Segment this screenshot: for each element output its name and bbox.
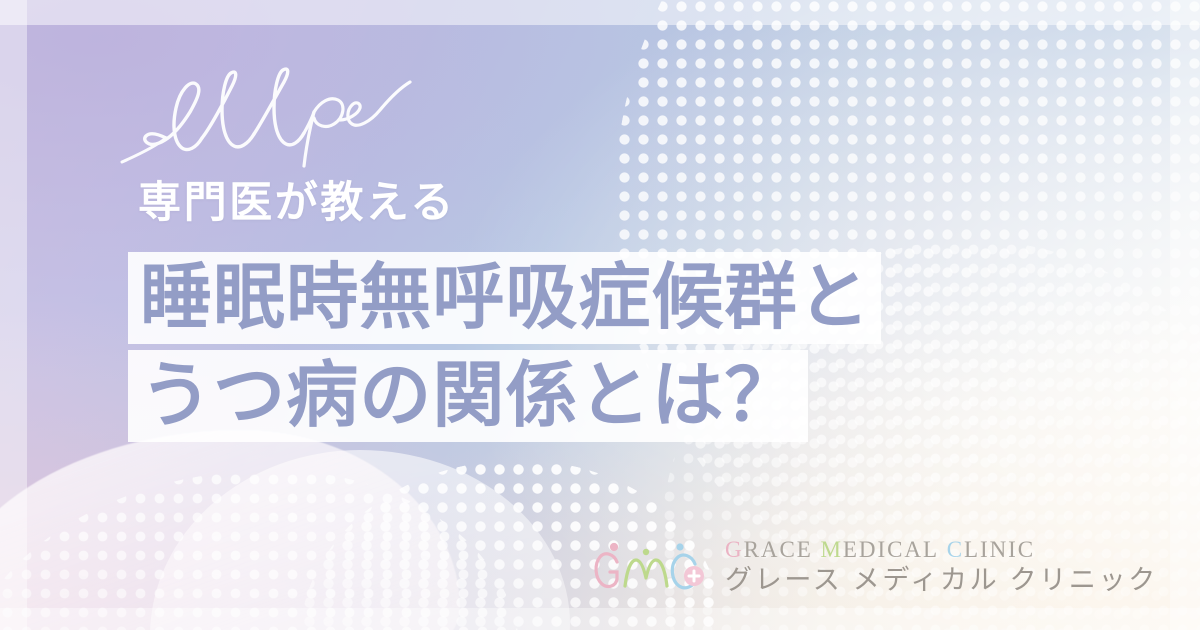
- headline: 睡眠時無呼吸症候群と うつ病の関係とは？: [128, 252, 881, 448]
- logo-en-linic: LINIC: [964, 537, 1035, 562]
- clinic-logo[interactable]: GRACE MEDICAL CLINIC グレース メディカル クリニック: [591, 536, 1158, 598]
- banner-content: 専門医が教える 睡眠時無呼吸症候群と うつ病の関係とは？: [0, 0, 1200, 630]
- headline-line-2: うつ病の関係とは？: [128, 350, 808, 442]
- headline-row-2: うつ病の関係とは？: [128, 350, 881, 448]
- script-wordmark-sleep: [118, 62, 418, 172]
- gmc-logo-mark-icon: [591, 536, 707, 598]
- logo-en-g: G: [725, 537, 744, 562]
- logo-en-race: RACE: [744, 537, 813, 562]
- headline-line-1: 睡眠時無呼吸症候群と: [128, 252, 881, 344]
- logo-en-m: M: [821, 537, 843, 562]
- logo-text-block: GRACE MEDICAL CLINIC グレース メディカル クリニック: [725, 538, 1158, 596]
- logo-name-jp: グレース メディカル クリニック: [725, 565, 1158, 596]
- logo-en-c: C: [947, 537, 964, 562]
- headline-row-1: 睡眠時無呼吸症候群と: [128, 252, 881, 350]
- logo-en-space1: [813, 537, 821, 562]
- logo-en-space2: [939, 537, 947, 562]
- logo-name-en: GRACE MEDICAL CLINIC: [725, 538, 1158, 561]
- eyebrow-text: 専門医が教える: [138, 180, 456, 227]
- logo-en-edical: EDICAL: [843, 537, 939, 562]
- ogp-banner: 専門医が教える 睡眠時無呼吸症候群と うつ病の関係とは？: [0, 0, 1200, 630]
